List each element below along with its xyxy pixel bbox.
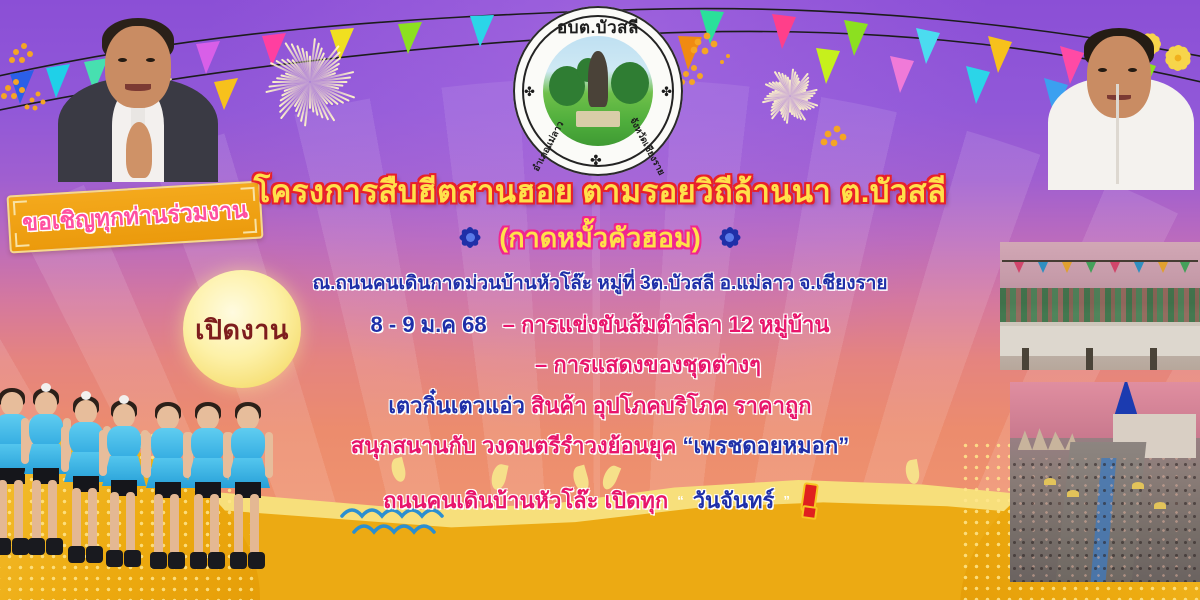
exclamation-mark-icon [799, 483, 817, 519]
logo-star-bottom-icon: ✤ [590, 152, 602, 169]
date-and-activity-row: 8 - 9 ม.ค 68 – การแข่งขันส้มตำลีลา 12 หม… [0, 307, 1200, 342]
logo-star-left-icon: ✤ [524, 84, 535, 100]
music-line-blue: “เพรชดอยหมอก” [683, 433, 850, 458]
portrait-official-right [1040, 0, 1200, 190]
poster-title: โครงการสืบฮีตสานฮอย ตามรอยวิถีล้านนา ต.บ… [0, 176, 1200, 209]
event-date: 8 - 9 ม.ค 68 [371, 307, 487, 342]
quote-close: ” [783, 493, 790, 508]
poster-text-block: โครงการสืบฮีตสานฮอย ตามรอยวิถีล้านนา ต.บ… [0, 176, 1200, 519]
lanna-flower-ornament-right-icon [715, 222, 745, 252]
activity-line-1: – การแข่งขันส้มตำลีลา 12 หมู่บ้าน [503, 307, 830, 342]
event-poster: อบต.บัวสลี อำเภอแม่ลาว จังหวัดเชียงราย ✤… [0, 0, 1200, 600]
goods-line: เตวกิ๋นเตวแอ่ว สินค้า อุปโภคบริโภค ราคาถ… [0, 388, 1200, 423]
municipality-seal-logo: อบต.บัวสลี อำเภอแม่ลาว จังหวัดเชียงราย ✤… [513, 6, 683, 176]
activity-line-2: – การแสดงของชุดต่างๆ [535, 352, 761, 377]
opening-day-value: วันจันทร์ [693, 483, 775, 518]
opening-days-row: ถนนคนเดินบ้านหัวโล๊ะ เปิดทุก “ วันจันทร์… [0, 483, 1200, 519]
goods-line-blue: เตวกิ๋นเตวแอ่ว [388, 393, 524, 418]
logo-top-text: อบต.บัวสลี [513, 14, 683, 41]
activity-row-2: – การแสดงของชุดต่างๆ [0, 347, 1200, 382]
music-line: สนุกสนานกับ วงดนตรีรำวงย้อนยุค “เพรชดอยห… [0, 428, 1200, 463]
poster-subtitle-row: (กาดหมั้วคัวฮอม) [0, 216, 1200, 259]
music-line-pink: สนุกสนานกับ วงดนตรีรำวงย้อนยุค [351, 433, 683, 458]
quote-open: “ [677, 493, 684, 508]
venue-address: ณ.ถนนคนเดินกาดม่วนบ้านหัวโล๊ะ หมู่ที่ 3ต… [0, 268, 1200, 298]
logo-star-right-icon: ✤ [661, 84, 672, 100]
opening-days-prefix: ถนนคนเดินบ้านหัวโล๊ะ เปิดทุก [383, 483, 668, 518]
portrait-official-left [48, 0, 228, 182]
lanna-flower-ornament-left-icon [455, 222, 485, 252]
poster-subtitle: (กาดหมั้วคัวฮอม) [499, 216, 701, 259]
goods-line-pink: สินค้า อุปโภคบริโภค ราคาถูก [525, 393, 812, 418]
